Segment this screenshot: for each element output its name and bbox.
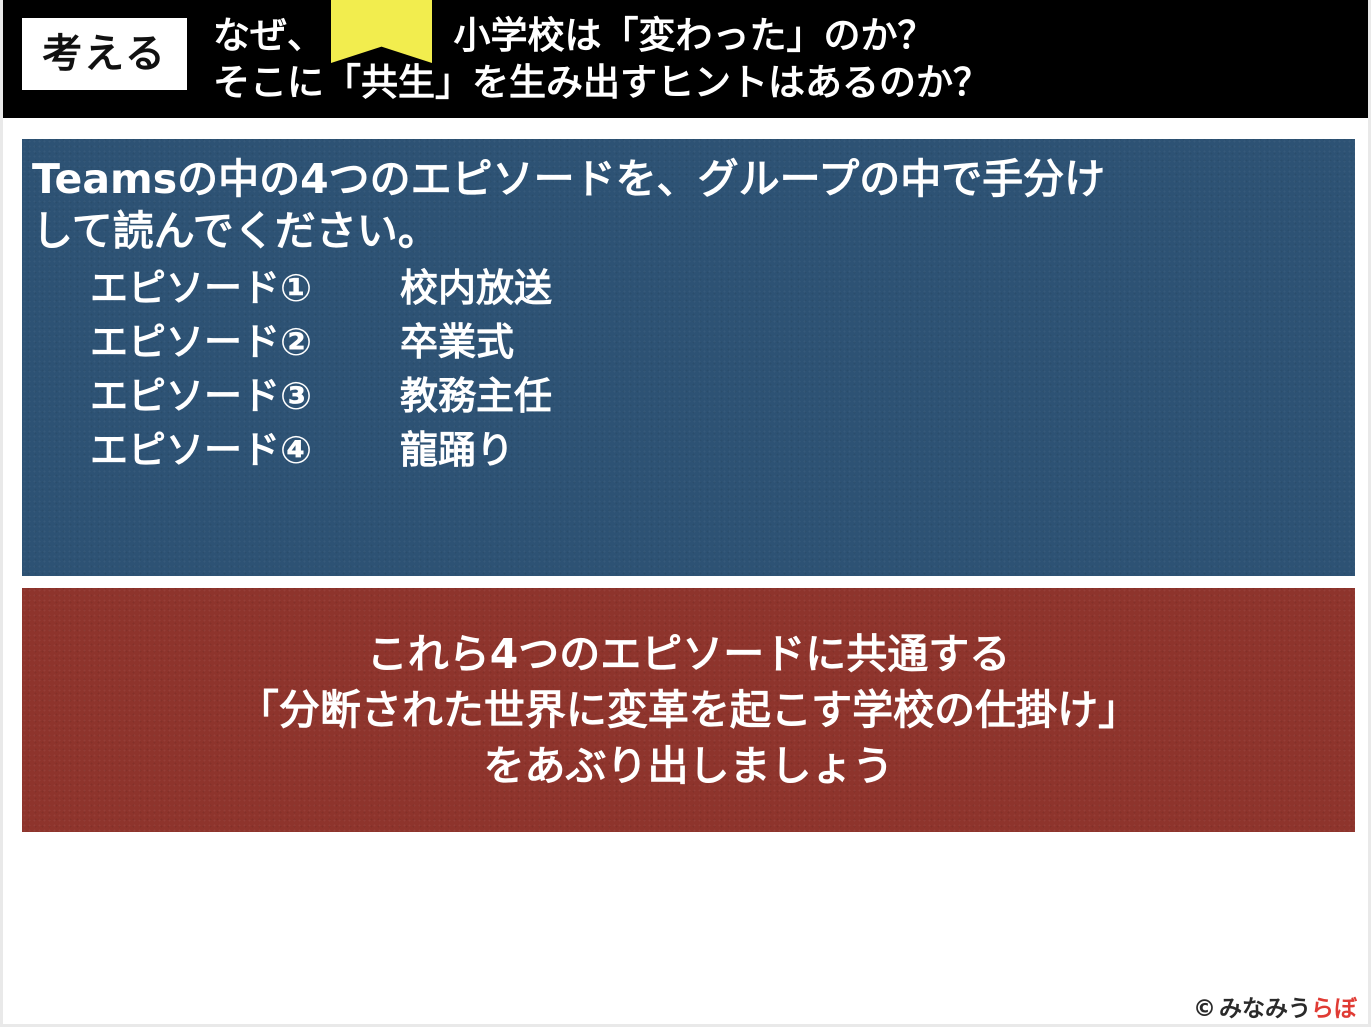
episode-list: エピソード① 校内放送 エピソード② 卒業式 エピソード③ 教務主任 エピソード… [32,261,1339,477]
header-band: 考える なぜ、 小学校は「変わった」のか？ そこに「共生」を生み出すヒントはある… [0,0,1371,118]
list-item: エピソード④ 龍踊り [32,423,1339,477]
episode-title: 卒業式 [400,315,514,369]
header-title-line-2: そこに「共生」を生み出すヒントはあるのか？ [213,59,1353,106]
instruction-line-2: して読んでください。 [32,205,1339,257]
list-item: エピソード① 校内放送 [32,261,1339,315]
episode-title: 教務主任 [400,369,552,423]
task-line-2: 「分断された世界に変革を起こす学校の仕掛け」 [238,682,1139,738]
think-badge-label: 考える [42,34,167,74]
watermark-text-dark: みなみう [1219,998,1311,1021]
watermark: © みなみう らぼ [1193,998,1357,1021]
think-badge: 考える [22,18,187,90]
task-panel: これら4つのエピソードに共通する 「分断された世界に変革を起こす学校の仕掛け」 … [22,588,1355,832]
slide-canvas: 考える なぜ、 小学校は「変わった」のか？ そこに「共生」を生み出すヒントはある… [0,0,1371,1027]
instruction-panel: Teamsの中の4つのエピソードを、グループの中で手分け して読んでください。 … [22,139,1355,576]
episode-label: エピソード① [90,261,400,315]
episode-title: 校内放送 [400,261,552,315]
episode-label: エピソード③ [90,369,400,423]
task-line-3: をあぶり出しましょう [484,738,894,794]
list-item: エピソード② 卒業式 [32,315,1339,369]
episode-label: エピソード② [90,315,400,369]
list-item: エピソード③ 教務主任 [32,369,1339,423]
task-line-1: これら4つのエピソードに共通する [367,626,1011,682]
instruction-line-1: Teamsの中の4つのエピソードを、グループの中で手分け [32,153,1339,205]
episode-title: 龍踊り [400,423,514,477]
watermark-text-red: らぼ [1311,998,1357,1021]
copyright-icon: © [1193,998,1216,1021]
episode-label: エピソード④ [90,423,400,477]
